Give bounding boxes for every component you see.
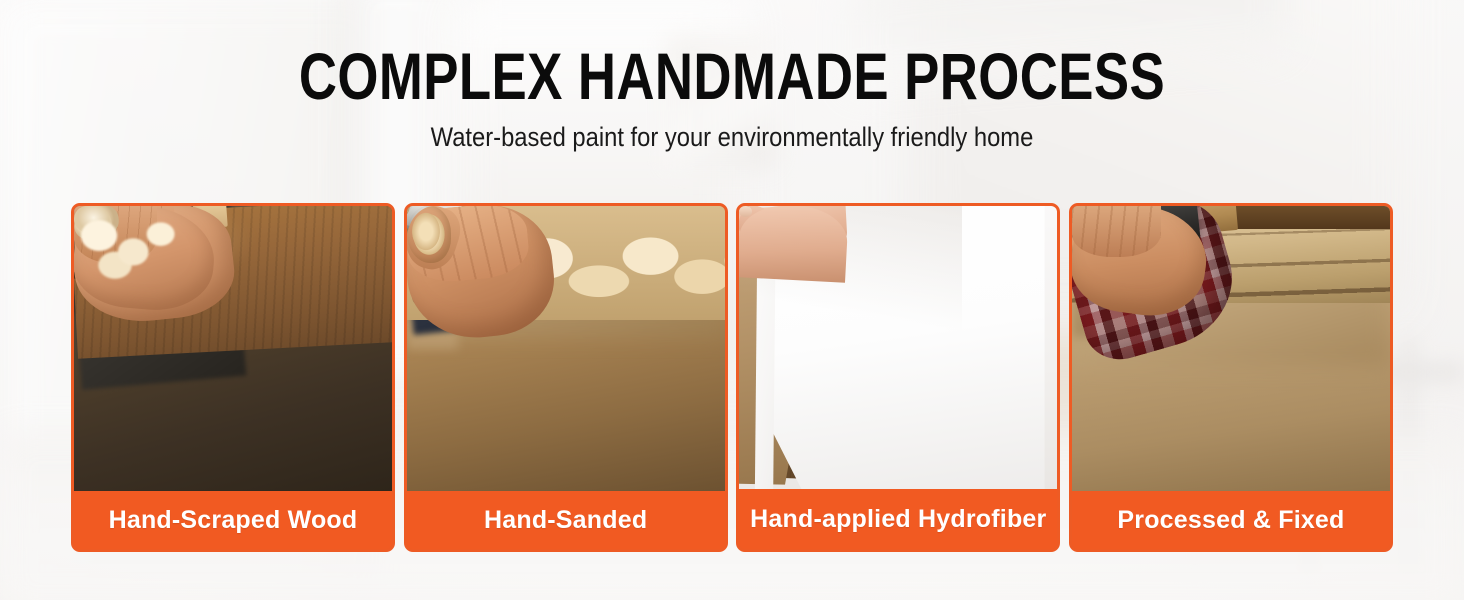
card-label-hand-applied-hydrofiber: Hand-applied Hydrofiber	[739, 489, 1057, 549]
card-image-hand-scraped-wood	[74, 206, 392, 491]
page-subtitle: Water-based paint for your environmental…	[88, 121, 1376, 153]
banner-header: COMPLEX HANDMADE PROCESS Water-based pai…	[0, 0, 1464, 153]
card-label-hand-sanded: Hand-Sanded	[407, 491, 725, 549]
process-card-hand-applied-hydrofiber[interactable]: Hand-applied Hydrofiber	[736, 203, 1060, 552]
lower-hand-fingers	[1072, 206, 1161, 257]
process-card-row: Hand-Scraped Wood Ha	[71, 203, 1393, 552]
card-label-processed-and-fixed: Processed & Fixed	[1072, 491, 1390, 549]
promo-banner: COMPLEX HANDMADE PROCESS Water-based pai…	[0, 0, 1464, 600]
card-image-hand-applied-hydrofiber	[739, 206, 1057, 489]
card-image-processed-and-fixed	[1072, 206, 1390, 491]
page-title: COMPLEX HANDMADE PROCESS	[146, 41, 1317, 111]
wood-curl-b	[407, 206, 445, 257]
card-label-hand-scraped-wood: Hand-Scraped Wood	[74, 491, 392, 549]
lower-hand	[739, 206, 849, 282]
wood-chip-pile	[74, 206, 188, 280]
process-card-hand-sanded[interactable]: Hand-Sanded	[404, 203, 728, 552]
card-image-hand-sanded	[407, 206, 725, 491]
process-card-hand-scraped-wood[interactable]: Hand-Scraped Wood	[71, 203, 395, 552]
process-card-processed-and-fixed[interactable]: Processed & Fixed	[1069, 203, 1393, 552]
